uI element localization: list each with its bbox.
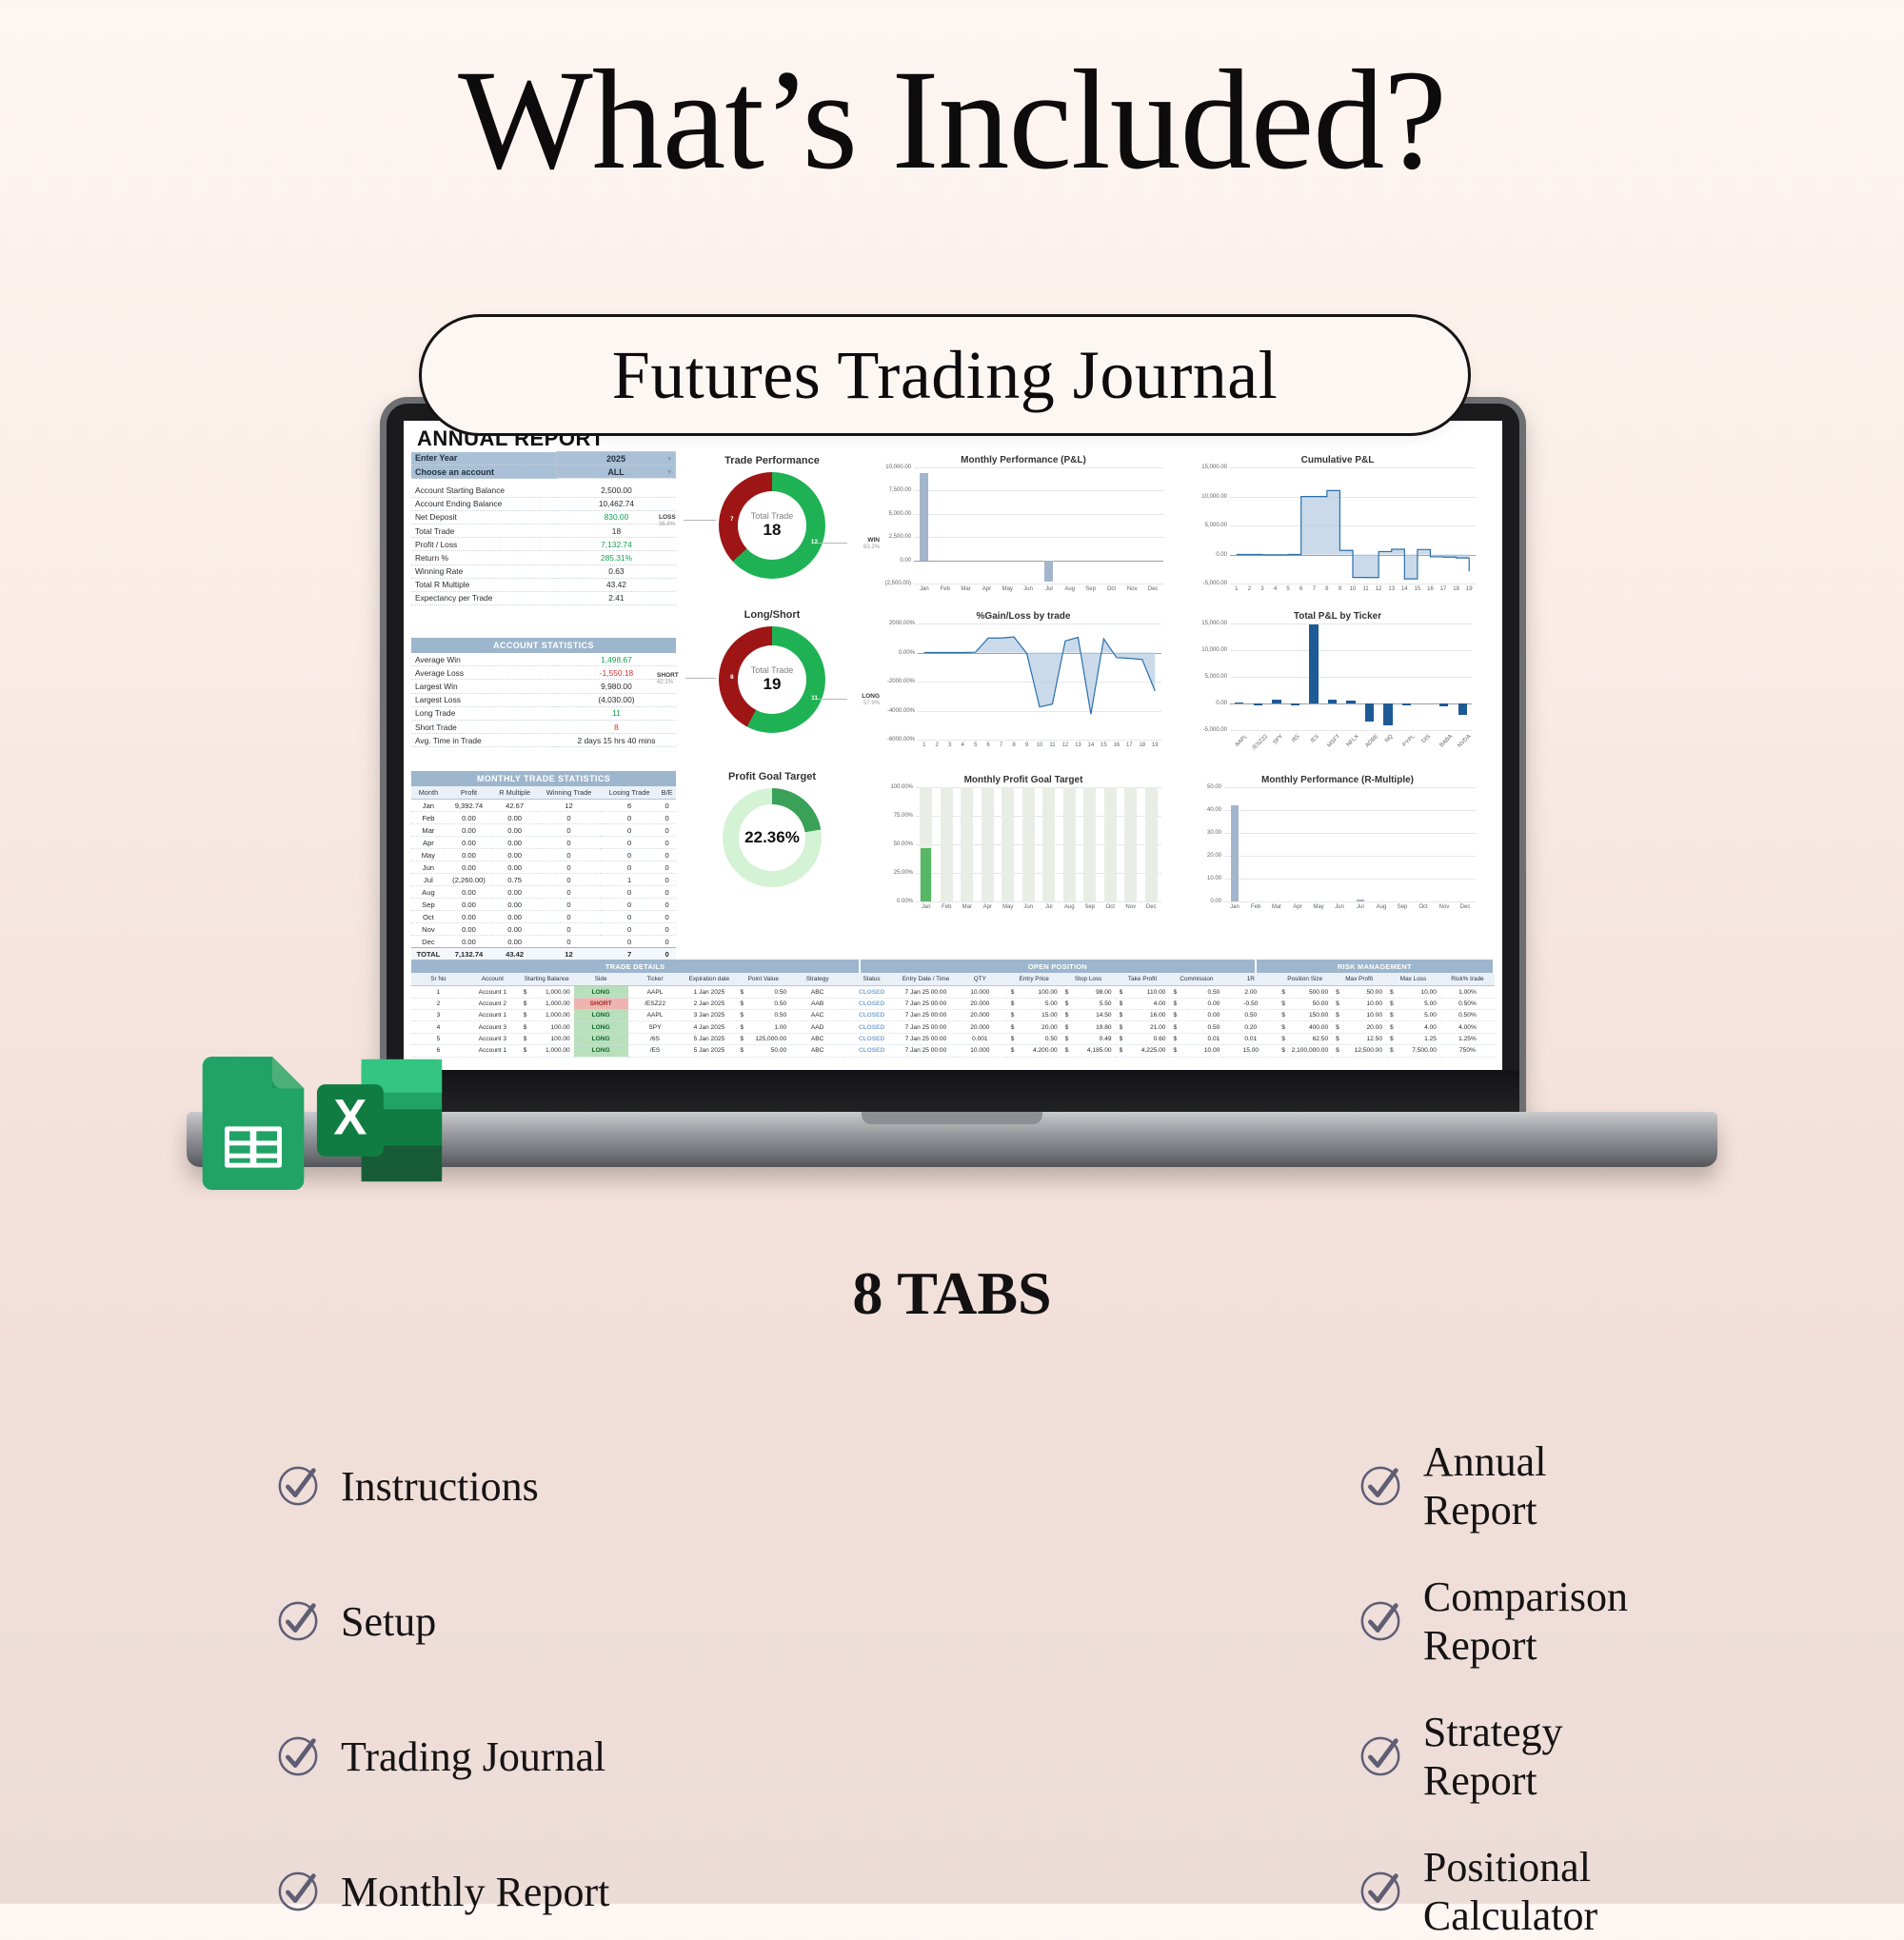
summary-label: Profit / Loss [411, 538, 557, 551]
chart-cumulative-pl: Cumulative P&L 15,000.0010,000.005,000.0… [1186, 455, 1489, 607]
x-axis-tick: Mar [962, 904, 972, 910]
summary-value: 10,462.74 [557, 497, 676, 510]
gridline [916, 901, 1161, 902]
table-cell: SPY [628, 1021, 683, 1033]
table-cell: 0 [537, 824, 601, 837]
table-cell: 0 [658, 899, 676, 911]
chart-trade-performance: Trade Performance Total Trade 18 7 12 [682, 455, 863, 607]
account-stat-label: Average Win [411, 653, 557, 666]
bar [1231, 805, 1240, 901]
x-axis-tick: Jan [920, 586, 929, 592]
table-cell: $20.00 [1332, 1021, 1386, 1033]
x-axis-tick: Aug [1377, 904, 1387, 910]
y-axis-tick: 2,500.00 [889, 534, 911, 540]
gridline [1224, 901, 1476, 902]
column-header: Month [411, 786, 446, 800]
table-cell: $50.00 [736, 1045, 790, 1057]
table-cell: 0.00 [446, 899, 492, 911]
account-stat-label: Average Loss [411, 666, 557, 680]
column-header: Max Profit [1332, 973, 1386, 986]
table-row: Jun0.000.00000 [411, 861, 676, 874]
table-row[interactable]: 2Account 2$1,000.00SHORT/ESZ222 Jan 2025… [411, 998, 1495, 1009]
y-axis-tick: (2,500.00) [885, 581, 911, 586]
table-cell: 0 [601, 911, 658, 923]
win-count: 12 [811, 539, 818, 545]
table-cell: 0 [658, 861, 676, 874]
table-cell: 0 [658, 824, 676, 837]
bar [1044, 561, 1053, 582]
account-stat-row: Largest Loss (4,030.00) [411, 693, 676, 706]
table-cell: $400.00 [1278, 1021, 1332, 1033]
bar [1346, 701, 1355, 703]
zero-line [1230, 703, 1472, 704]
gridline [1224, 879, 1476, 880]
bar [1365, 703, 1374, 722]
table-cell: 0 [537, 911, 601, 923]
y-axis-tick: 10,000.00 [1201, 494, 1227, 500]
account-stat-value: 8 [557, 720, 676, 733]
table-cell: 0 [537, 874, 601, 886]
table-cell: 0.00 [446, 886, 492, 899]
product-title-text: Futures Trading Journal [612, 336, 1279, 415]
table-cell: /ESZ22 [628, 998, 683, 1009]
gridline [1230, 677, 1472, 678]
checklist-item-monthly-report: Monthly Report [276, 1843, 749, 1940]
table-cell: Feb [411, 812, 446, 824]
account-stat-value: 11 [557, 706, 676, 720]
table-cell: 3 Jan 2025 [682, 1010, 736, 1021]
table-cell: ABC [790, 1033, 844, 1044]
summary-row: Net Deposit 830.00 [411, 510, 676, 524]
table-cell: 0 [658, 886, 676, 899]
table-cell: AAD [790, 1021, 844, 1033]
svg-text:X: X [333, 1090, 367, 1146]
x-axis-tick: Jun [1023, 586, 1033, 592]
table-cell: 0 [601, 861, 658, 874]
table-cell: $21.00 [1116, 1021, 1170, 1033]
table-row[interactable]: 5Account 3$100.00LONG/6S5 Jan 2025$125,0… [411, 1033, 1495, 1044]
gridline [1230, 624, 1472, 624]
chart-title: %Gain/Loss by trade [872, 611, 1175, 622]
table-cell: 7 Jan 25 00:00 [899, 1045, 953, 1057]
summary-label: Return % [411, 551, 557, 564]
table-cell: 0 [658, 849, 676, 861]
x-axis-tick: 18 [1453, 586, 1459, 592]
table-cell: $1.25 [1386, 1033, 1440, 1044]
table-cell: $150.00 [1278, 1010, 1332, 1021]
column-header: Take Profit [1116, 973, 1170, 986]
account-stat-label: Largest Loss [411, 693, 557, 706]
table-cell: 5 Jan 2025 [682, 1045, 736, 1057]
file-format-icons: X [202, 1045, 487, 1198]
profit-goal-value: 22.36% [744, 828, 800, 847]
y-axis-tick: 0.00 [1216, 701, 1227, 706]
x-axis-tick: Oct [1107, 586, 1116, 592]
table-cell: $10.00 [1332, 1010, 1386, 1021]
column-header: Losing Trade [601, 786, 658, 800]
summary-row: Total Trade 18 [411, 524, 676, 537]
table-cell: 0 [658, 948, 676, 960]
table-row[interactable]: 6Account 1$1,000.00LONG/ES5 Jan 2025$50.… [411, 1045, 1495, 1057]
account-stat-label: Avg. Time in Trade [411, 734, 557, 747]
x-axis-tick: 13 [1388, 586, 1395, 592]
table-row[interactable]: 4Account 3$100.00LONGSPY4 Jan 2025$1.00A… [411, 1021, 1495, 1033]
enter-year-value: 2025 [606, 454, 625, 464]
table-cell: $100.00 [1007, 986, 1061, 998]
table-cell: $125,000.00 [736, 1033, 790, 1044]
x-axis-tick: 3 [948, 742, 951, 748]
table-row: Dec0.000.00000 [411, 936, 676, 948]
x-axis-tick: Feb [1251, 904, 1260, 910]
table-cell: 6 [601, 800, 658, 812]
table-cell: 0 [537, 861, 601, 874]
profit-goal-donut: 22.36% [723, 788, 822, 887]
bar-background [1063, 787, 1076, 901]
table-row[interactable]: 3Account 1$1,000.00LONGAAPL3 Jan 2025$0.… [411, 1010, 1495, 1021]
x-axis-tick: 18 [1139, 742, 1145, 748]
choose-account-value: ALL [607, 467, 625, 477]
table-cell: 0.50% [1440, 1010, 1495, 1021]
y-axis-tick: 7,500.00 [889, 487, 911, 493]
trade-performance-donut: Total Trade 18 7 12 [719, 472, 825, 579]
column-header: Entry Date / Time [899, 973, 953, 986]
x-axis-tick: 3 [1260, 586, 1263, 592]
x-axis-tick: Apr [983, 904, 992, 910]
x-axis-tick: NQ [1384, 734, 1395, 744]
gridline [1224, 787, 1476, 788]
x-axis-tick: Nov [1125, 904, 1136, 910]
loss-count: 7 [730, 516, 734, 523]
chart-monthly-performance-r-multiple: Monthly Performance (R-Multiple) 50.0040… [1186, 775, 1489, 932]
x-axis-tick: 1 [1235, 586, 1238, 592]
laptop-keyboard-deck [387, 1070, 1519, 1116]
column-header: Stop Loss [1061, 973, 1116, 986]
trade-details-panel: TRADE DETAILS OPEN POSITION RISK MANAGEM… [411, 960, 1495, 1058]
chart-monthly-performance-pl: Monthly Performance (P&L) 10,000.007,500… [872, 455, 1175, 607]
x-axis-tick: Sep [1084, 904, 1095, 910]
enter-year-select[interactable]: 2025 ▾ [557, 452, 676, 465]
table-cell: 0.00 [446, 911, 492, 923]
table-cell: 0.001 [953, 1033, 1007, 1044]
bar [1402, 703, 1411, 705]
table-cell: 0 [537, 837, 601, 849]
trade-details-table[interactable]: Sr NoAccountStarting BalanceSideTickerEx… [411, 973, 1495, 1058]
y-axis-tick: -4000.00% [887, 708, 915, 714]
choose-account-row[interactable]: Choose an account ALL ▾ [411, 465, 676, 479]
x-axis-tick: Apr [982, 586, 991, 592]
table-cell: Account 2 [466, 998, 520, 1009]
table-cell: 0 [537, 812, 601, 824]
account-stat-label: Long Trade [411, 706, 557, 720]
monthly-trade-statistics-table: MonthProfitR MultipleWinning TradeLosing… [411, 786, 676, 960]
bar-background [1145, 787, 1158, 901]
x-axis-tick: 9 [1339, 586, 1341, 592]
x-axis-tick: 2 [1248, 586, 1251, 592]
checklist-label: Trading Journal [341, 1732, 605, 1781]
bar-background [961, 787, 973, 901]
table-cell: 0 [601, 837, 658, 849]
column-header: Risk% trade [1440, 973, 1495, 986]
chart-title: Monthly Performance (P&L) [872, 455, 1175, 465]
table-cell: CLOSED [844, 1010, 899, 1021]
table-cell: AAB [790, 998, 844, 1009]
checklist-label: Strategy Report [1423, 1708, 1628, 1805]
table-cell: LONG [574, 1045, 628, 1057]
account-stat-label: Short Trade [411, 720, 557, 733]
table-cell: $10.00 [1332, 998, 1386, 1009]
column-header: Max Loss [1386, 973, 1440, 986]
summary-row: Expectancy per Trade 2.41 [411, 591, 676, 604]
table-cell: 7 [601, 948, 658, 960]
table-cell: 4.00% [1440, 1021, 1495, 1033]
table-cell: $4,200.00 [1007, 1045, 1061, 1057]
column-header: R Multiple [492, 786, 537, 800]
table-row: Nov0.000.00000 [411, 923, 676, 936]
x-axis-tick: Mar [961, 586, 970, 592]
x-axis-tick: Jul [1045, 904, 1053, 910]
chart-title: Total P&L by Ticker [1186, 611, 1489, 622]
table-cell: 0.00 [492, 812, 537, 824]
x-axis-tick: Oct [1106, 904, 1115, 910]
y-axis-tick: -5,000.00 [1203, 581, 1227, 586]
table-cell: 0.00 [446, 936, 492, 948]
y-axis-tick: -2000.00% [887, 679, 915, 684]
y-axis-tick: 15,000.00 [1201, 465, 1227, 470]
table-cell: CLOSED [844, 1021, 899, 1033]
x-axis-tick: 14 [1401, 586, 1408, 592]
bar [920, 473, 928, 561]
table-cell: 2 Jan 2025 [682, 998, 736, 1009]
table-cell: 0 [658, 874, 676, 886]
enter-year-label: Enter Year [411, 452, 557, 465]
gridline [914, 514, 1163, 515]
controls-panel: Enter Year 2025 ▾ Choose an account ALL … [411, 451, 676, 605]
x-axis-tick: AAPL [1234, 734, 1248, 748]
y-axis-tick: 2000.00% [889, 621, 915, 626]
bar [1309, 624, 1318, 703]
table-cell: Account 1 [466, 1010, 520, 1021]
column-header: Position Size [1278, 973, 1332, 986]
table-cell: Jun [411, 861, 446, 874]
check-circle-icon [1359, 1464, 1402, 1508]
table-cell: $100.00 [520, 1033, 574, 1044]
table-cell: $50.00 [1278, 998, 1332, 1009]
chart-title: Cumulative P&L [1186, 455, 1489, 465]
check-circle-icon [1359, 1734, 1402, 1778]
table-cell: AAC [790, 1010, 844, 1021]
table-cell: Sep [411, 899, 446, 911]
x-axis-tick: 1 [922, 742, 925, 748]
x-axis-tick: 8 [1325, 586, 1328, 592]
summary-row: Account Starting Balance 2,500.00 [411, 484, 676, 497]
summary-value: 7,132.74 [557, 538, 676, 551]
table-cell: Oct [411, 911, 446, 923]
table-cell: 0.01 [1223, 1033, 1278, 1044]
column-header: Status [844, 973, 899, 986]
y-axis-tick: 0.00 [1210, 899, 1221, 904]
x-axis-tick: 13 [1075, 742, 1081, 748]
table-cell: 0.00 [492, 911, 537, 923]
x-axis-tick: NFLX [1346, 734, 1360, 748]
series-path [1230, 467, 1476, 584]
chart-title: Profit Goal Target [682, 771, 863, 782]
gridline [914, 584, 1163, 584]
column-header: Account [466, 973, 520, 986]
checklist-label: Monthly Report [341, 1868, 609, 1916]
table-cell: $1,000.00 [520, 998, 574, 1009]
account-stat-value: 1,498.67 [557, 653, 676, 666]
loss-leader-line [684, 520, 716, 521]
x-axis-tick: Feb [942, 904, 951, 910]
x-axis-tick: Sep [1398, 904, 1408, 910]
check-circle-icon [276, 1464, 320, 1508]
band-risk-management: RISK MANAGEMENT [1257, 960, 1495, 973]
account-stat-value: 2 days 15 hrs 40 mins [557, 734, 676, 747]
y-axis-tick: 0.00% [897, 899, 913, 904]
table-row: Jan9,392.7442.671260 [411, 800, 676, 812]
table-cell: 20.000 [953, 998, 1007, 1009]
table-cell: Nov [411, 923, 446, 936]
table-cell: $10.00 [1386, 986, 1440, 998]
table-cell: 0 [537, 899, 601, 911]
table-cell: -0.50 [1223, 998, 1278, 1009]
table-row: Feb0.000.00000 [411, 812, 676, 824]
table-cell: ABC [790, 986, 844, 998]
table-cell: /6S [628, 1033, 683, 1044]
x-axis-tick: BABA [1438, 734, 1454, 749]
table-cell: 0.00 [492, 899, 537, 911]
table-cell: 0 [537, 886, 601, 899]
enter-year-row[interactable]: Enter Year 2025 ▾ [411, 452, 676, 465]
checklist-item-trading-journal: Trading Journal [276, 1708, 749, 1805]
table-cell: 7 Jan 25 00:00 [899, 998, 953, 1009]
summary-label: Account Starting Balance [411, 484, 557, 497]
bar [1291, 703, 1299, 705]
column-header: Starting Balance [520, 973, 574, 986]
table-cell: 7 Jan 25 00:00 [899, 1010, 953, 1021]
y-axis-tick: 20.00 [1207, 853, 1221, 859]
table-cell: LONG [574, 986, 628, 998]
x-axis-tick: 19 [1466, 586, 1473, 592]
table-cell: Apr [411, 837, 446, 849]
table-cell: 0 [601, 824, 658, 837]
summary-label: Winning Rate [411, 564, 557, 578]
donut-center-value: 18 [764, 521, 782, 540]
x-axis-tick: /ES [1310, 734, 1320, 744]
summary-value: 2,500.00 [557, 484, 676, 497]
checklist-label: Annual Report [1423, 1437, 1628, 1534]
product-title-badge: Futures Trading Journal [419, 314, 1471, 436]
x-axis-tick: 6 [1299, 586, 1302, 592]
y-axis-tick: 15,000.00 [1201, 621, 1227, 626]
y-axis-tick: 10,000.00 [1201, 647, 1227, 653]
column-header: Commission [1169, 973, 1223, 986]
spreadsheet-dashboard: ANNUAL REPORT Enter Year 2025 ▾ Choose a… [404, 421, 1502, 1104]
x-axis-tick: 17 [1126, 742, 1133, 748]
table-row: Jul(2,260.00)0.75010 [411, 874, 676, 886]
table-cell: Jan [411, 800, 446, 812]
bar [1272, 700, 1280, 703]
x-axis-tick: 5 [974, 742, 977, 748]
column-header: Profit [446, 786, 492, 800]
summary-label: Account Ending Balance [411, 497, 557, 510]
gridline [1230, 650, 1472, 651]
y-axis-tick: -6000.00% [887, 737, 915, 742]
y-axis-tick: -5,000.00 [1203, 727, 1227, 733]
table-cell: 0 [537, 923, 601, 936]
x-axis-tick: Apr [1293, 904, 1301, 910]
table-cell: Account 1 [466, 986, 520, 998]
table-cell: $0.50 [1169, 1021, 1223, 1033]
table-cell: $100.00 [520, 1021, 574, 1033]
table-cell: 7 Jan 25 00:00 [899, 986, 953, 998]
table-cell: 12 [537, 800, 601, 812]
table-cell: 0.00 [492, 837, 537, 849]
choose-account-select[interactable]: ALL ▾ [557, 465, 676, 479]
monthly-trade-statistics-panel: MONTHLY TRADE STATISTICS MonthProfitR Mu… [411, 771, 676, 960]
y-axis-tick: 30.00 [1207, 830, 1221, 836]
chevron-down-icon: ▾ [667, 468, 671, 476]
x-axis-tick: 15 [1101, 742, 1107, 748]
x-axis-tick: Sep [1085, 586, 1096, 592]
column-header: Strategy [790, 973, 844, 986]
table-row: Oct0.000.00000 [411, 911, 676, 923]
x-axis-tick: Jun [1335, 904, 1344, 910]
account-stat-row: Average Win 1,498.67 [411, 653, 676, 666]
table-cell: 5 [411, 1033, 466, 1044]
table-cell: 0 [658, 911, 676, 923]
summary-stats-table: Account Starting Balance 2,500.00Account… [411, 484, 676, 605]
bar [1357, 900, 1365, 901]
chart-pct-gain-loss: %Gain/Loss by trade 2000.00%0.00%-2000.0… [872, 611, 1175, 768]
chart-title: Long/Short [682, 609, 863, 621]
account-stat-row: Largest Win 9,980.00 [411, 680, 676, 693]
x-axis-tick: Oct [1418, 904, 1427, 910]
table-cell: $0.01 [1169, 1033, 1223, 1044]
microsoft-excel-icon: X [314, 1049, 447, 1192]
choose-account-label: Choose an account [411, 465, 557, 479]
table-cell: $0.49 [1061, 1033, 1116, 1044]
x-axis-tick: /6S [1291, 734, 1301, 744]
account-stat-label: Largest Win [411, 680, 557, 693]
table-cell: $500.00 [1278, 986, 1332, 998]
table-cell: $15.00 [1007, 1010, 1061, 1021]
table-cell: $0.50 [1169, 986, 1223, 998]
summary-value: 43.42 [557, 578, 676, 591]
table-cell: /ES [628, 1045, 683, 1057]
x-axis-tick: 12 [1062, 742, 1069, 748]
checklist-item-comparison-report: Comparison Report [749, 1573, 1628, 1670]
series-path [918, 624, 1161, 740]
check-circle-icon [1359, 1870, 1402, 1913]
table-cell: 12 [537, 948, 601, 960]
tabs-heading: 8 TABS [0, 1258, 1904, 1329]
bar [1439, 703, 1448, 706]
x-axis-tick: 11 [1049, 742, 1055, 748]
table-cell: $98.00 [1061, 986, 1116, 998]
table-row[interactable]: 1Account 1$1,000.00LONGAAPL1 Jan 2025$0.… [411, 986, 1495, 998]
table-cell: $7,500.00 [1386, 1045, 1440, 1057]
table-cell: 0 [537, 849, 601, 861]
checklist-item-positional-calculator: Positional Calculator [749, 1843, 1628, 1940]
bar-background [1083, 787, 1096, 901]
chevron-down-icon: ▾ [667, 455, 671, 463]
table-cell: $5.50 [1061, 998, 1116, 1009]
table-cell: Aug [411, 886, 446, 899]
x-axis-tick: Aug [1064, 586, 1075, 592]
x-axis-tick: May [1313, 904, 1323, 910]
table-cell: 0.50% [1440, 998, 1495, 1009]
